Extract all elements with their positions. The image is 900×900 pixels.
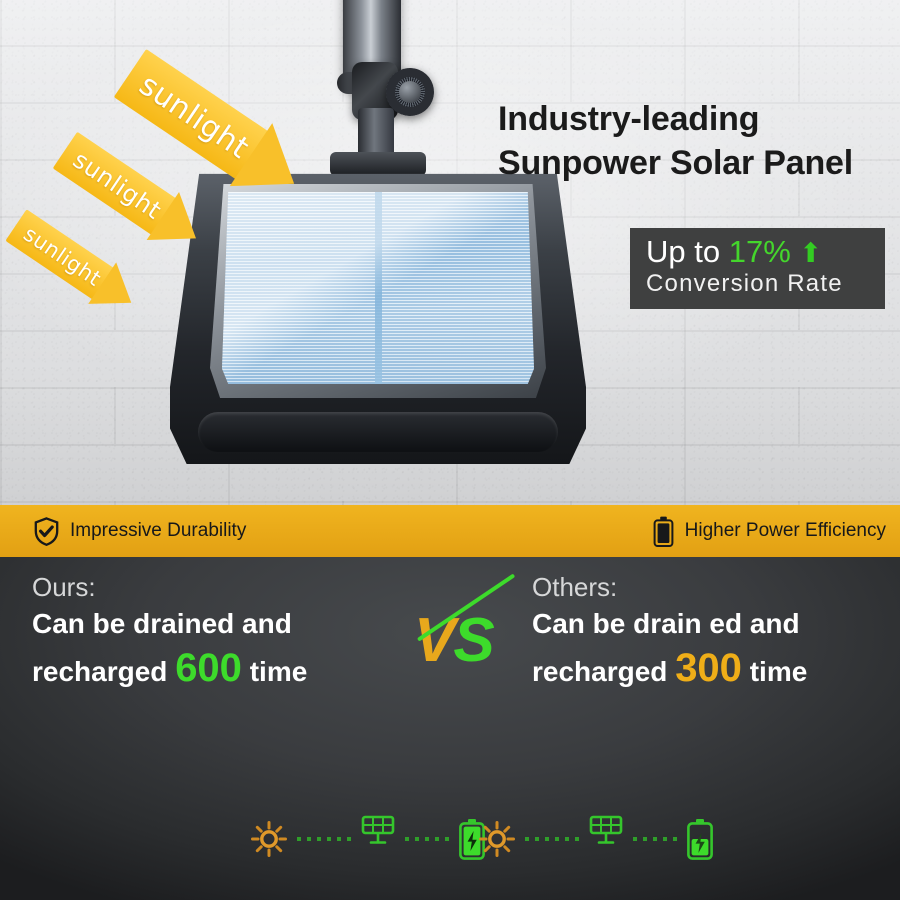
sun-icon	[250, 820, 288, 858]
ours-energy-flow	[250, 818, 486, 860]
feature-bar: Impressive Durability Higher Power Effic…	[0, 505, 900, 557]
feature-label: Impressive Durability	[70, 520, 246, 542]
conversion-rate-badge: Up to 17% ⬆ Conversion Rate	[630, 228, 885, 309]
conversion-rate-value-row: Up to 17% ⬆	[646, 235, 885, 270]
vs-badge: VS	[414, 600, 524, 682]
flow-dots-1	[297, 837, 351, 841]
lamp-housing	[170, 168, 586, 464]
feature-label: Higher Power Efficiency	[685, 520, 886, 542]
others-claim-line-2: recharged 300 time	[532, 642, 900, 694]
vs-text: VS	[414, 600, 524, 682]
panel-glare	[222, 192, 534, 384]
others-claim-line-1: Can be drain ed and	[532, 606, 900, 642]
hero-section: sunlight sunlight sunlight Industry-lead…	[0, 0, 900, 505]
conversion-prefix: Up to	[646, 234, 720, 269]
conversion-value: 17%	[729, 234, 791, 269]
ours-cycle-count: 600	[175, 646, 242, 690]
feature-higher-power-efficiency: Higher Power Efficiency	[653, 516, 886, 547]
others-claim: Can be drain ed and recharged 300 time	[532, 606, 900, 694]
conversion-caption: Conversion Rate	[646, 270, 885, 299]
others-column: Others: Can be drain ed and recharged 30…	[532, 571, 900, 694]
ours-claim-line-1: Can be drained and	[32, 606, 442, 642]
page-title: Industry-leading Sunpower Solar Panel	[498, 98, 898, 185]
solar-panel-icon	[360, 813, 396, 849]
ours-heading: Ours:	[32, 571, 442, 604]
headline-line-2: Sunpower Solar Panel	[498, 142, 898, 186]
flow-dots-1	[525, 837, 579, 841]
others-claim-prefix: recharged	[532, 656, 667, 687]
solar-panel-surface	[222, 192, 534, 384]
headline-line-1: Industry-leading	[498, 98, 898, 142]
others-claim-suffix: time	[750, 656, 808, 687]
flow-dots-2	[405, 837, 449, 841]
others-heading: Others:	[532, 571, 900, 604]
ours-claim-suffix: time	[250, 656, 308, 687]
battery-icon	[653, 516, 674, 547]
solar-panel-icon	[588, 813, 624, 849]
ours-claim-prefix: recharged	[32, 656, 167, 687]
sun-icon	[478, 820, 516, 858]
lamp-front-lip	[198, 412, 558, 452]
product-infographic: sunlight sunlight sunlight Industry-lead…	[0, 0, 900, 900]
feature-impressive-durability: Impressive Durability	[34, 517, 246, 546]
others-energy-flow	[478, 818, 714, 860]
flow-dots-2	[633, 837, 677, 841]
others-cycle-count: 300	[675, 646, 742, 690]
ours-column: Ours: Can be drained and recharged 600 t…	[32, 571, 442, 694]
shield-check-icon	[34, 517, 59, 546]
ours-claim-line-2: recharged 600 time	[32, 642, 442, 694]
ours-claim: Can be drained and recharged 600 time	[32, 606, 442, 694]
vs-s: S	[453, 606, 492, 675]
battery-half-icon	[686, 818, 714, 860]
up-arrow-icon: ⬆	[799, 238, 822, 268]
